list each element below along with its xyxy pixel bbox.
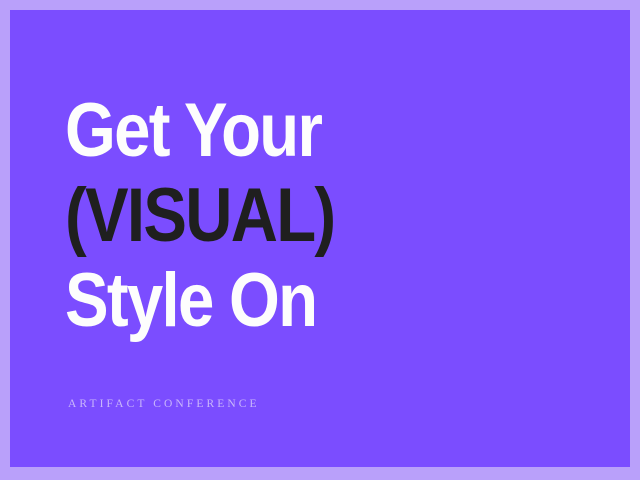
slide-kicker: ARTIFACT CONFERENCE (68, 396, 260, 412)
slide-canvas: Get Your (VISUAL) Style On ARTIFACT CONF… (0, 0, 640, 480)
slide-headline: Get Your (VISUAL) Style On (65, 88, 565, 343)
headline-line-1: Get Your (65, 88, 495, 173)
headline-line-2: (VISUAL) (65, 173, 495, 258)
headline-line-3: Style On (65, 258, 495, 343)
slide-background-panel: Get Your (VISUAL) Style On ARTIFACT CONF… (10, 10, 630, 467)
